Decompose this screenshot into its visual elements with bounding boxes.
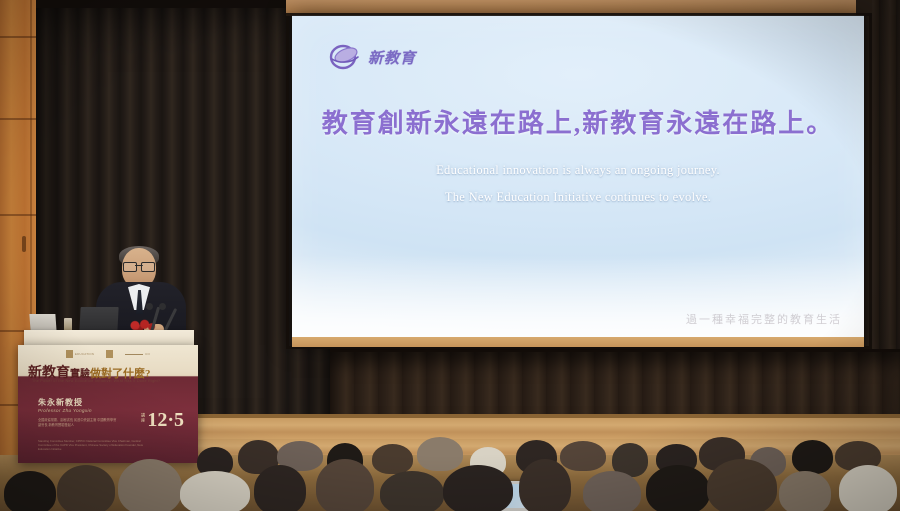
podium-date: 12·5	[147, 409, 184, 432]
slide-logo: 新教育	[328, 43, 416, 71]
sponsor-logo-3: CO	[125, 353, 150, 356]
audience-head	[417, 437, 463, 471]
audience-head	[779, 471, 831, 511]
new-education-swoosh-icon	[328, 43, 362, 71]
laptop	[79, 307, 118, 332]
sponsor-logo-row: EDUCATION CO	[18, 347, 198, 361]
audience-head	[380, 471, 444, 511]
slide-slogan: 過一種幸福完整的教育生活	[686, 311, 842, 327]
audience-head	[118, 459, 182, 511]
podium-speaker-name: 朱永新教授	[38, 397, 83, 408]
podium-date-label: 講座	[140, 413, 146, 423]
audience-head	[839, 465, 897, 511]
eyeglasses-icon	[123, 262, 155, 270]
audience-head	[316, 459, 374, 511]
slide-subtitle-line-1: Educational innovation is always an ongo…	[292, 163, 864, 178]
microphone-head	[146, 303, 153, 310]
audience-head	[254, 465, 306, 511]
podium-banner-subtitle: The Power of the New Education Initiativ…	[32, 379, 192, 383]
lecture-hall-photo: 新教育 教育創新永遠在路上,新教育永遠在路上。 Educational inno…	[0, 0, 900, 511]
stage-skirt-curtain	[330, 352, 900, 418]
audience-head	[372, 444, 413, 474]
audience-head	[57, 465, 115, 511]
wall-strip-above-screen	[286, 0, 872, 16]
wall-door-handle	[22, 236, 26, 252]
audience-head	[792, 440, 833, 474]
podium-speaker-blurb: 全國政協常委、副秘書長 民進中央副主席 中國教育學會副會長 新教育實驗發起人	[38, 418, 118, 428]
slide-headline: 教育創新永遠在路上,新教育永遠在路上。	[292, 103, 864, 140]
audience-head	[180, 471, 250, 511]
screen-bottom-strip	[292, 337, 864, 347]
audience-head	[583, 471, 641, 511]
audience-head	[519, 459, 571, 511]
audience-head	[4, 471, 56, 511]
sponsor-logo-2	[106, 350, 113, 358]
sponsor-logo-1: EDUCATION	[66, 350, 94, 358]
audience	[0, 430, 900, 511]
podium-speaker-name-en: Professor Zhu Yongxin	[38, 408, 92, 413]
slide-subtitle-line-2: The New Education Initiative continues t…	[292, 190, 864, 205]
audience-head	[560, 441, 606, 471]
audience-head	[443, 465, 513, 511]
projection-screen: 新教育 教育創新永遠在路上,新教育永遠在路上。 Educational inno…	[292, 15, 864, 345]
audience-head	[707, 459, 777, 511]
microphone-head	[159, 303, 166, 310]
slide-logo-text: 新教育	[368, 47, 416, 68]
screen-corner-cap	[856, 0, 872, 16]
audience-head	[646, 465, 710, 511]
